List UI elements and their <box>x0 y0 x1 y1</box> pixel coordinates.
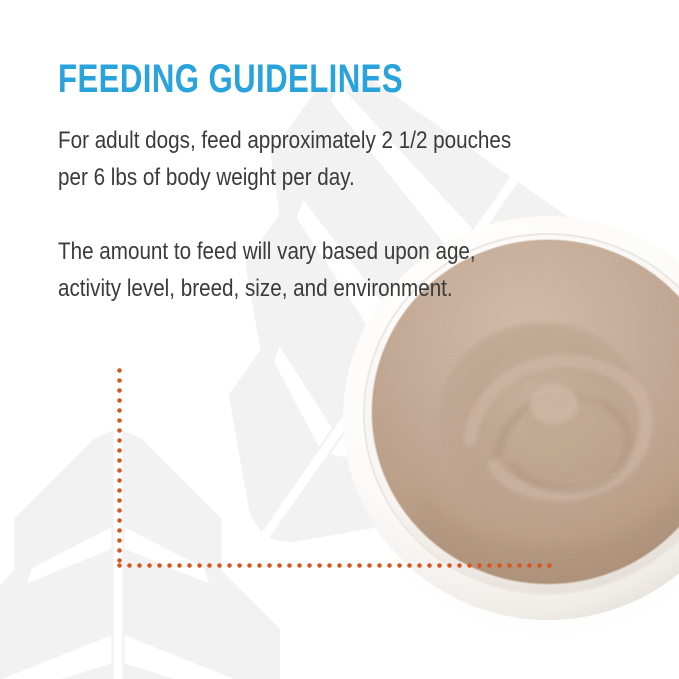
dotted-line-horizontal <box>117 563 553 568</box>
page-title: FEEDING GUIDELINES <box>58 58 495 100</box>
dotted-line-vertical <box>117 368 122 568</box>
monstera-leaf-bottom-left <box>0 428 319 679</box>
feeding-variability-paragraph: The amount to feed will vary based upon … <box>58 233 540 307</box>
feeding-guidelines-panel: FEEDING GUIDELINES For adult dogs, feed … <box>0 0 679 679</box>
feeding-amount-paragraph: For adult dogs, feed approximately 2 1/2… <box>58 122 540 196</box>
text-content: FEEDING GUIDELINES For adult dogs, feed … <box>58 58 618 307</box>
